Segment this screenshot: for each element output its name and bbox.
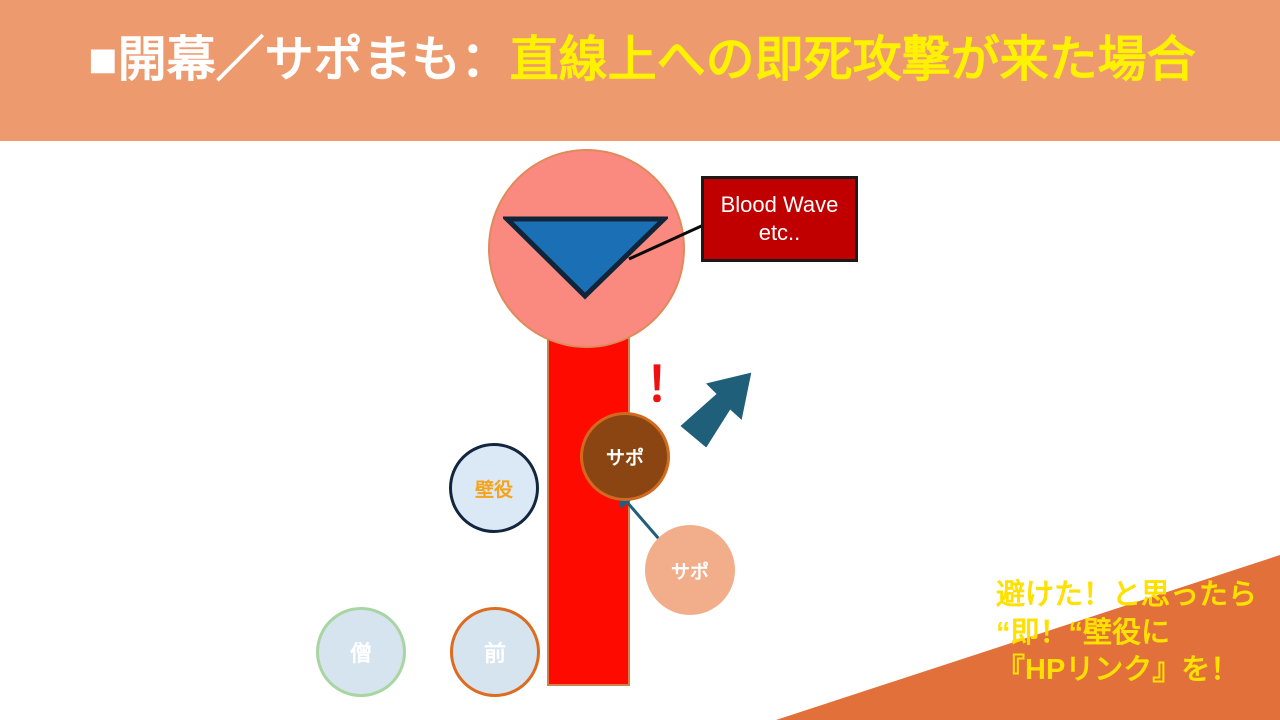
callout-line-2: etc.. <box>759 219 801 247</box>
token-support-peach-label: サポ <box>671 557 709 584</box>
token-wall-label: 壁役 <box>475 475 513 502</box>
corner-note-line-2: “即！“壁役に <box>996 615 1257 653</box>
corner-note-line-1: 避けた！と思ったら <box>996 577 1257 615</box>
corner-note-text: 避けた！と思ったら “即！“壁役に 『HPリンク』を！ <box>996 577 1257 690</box>
page-title: ■開幕／サポまも：直線上への即死攻撃が来た場合 <box>88 34 1196 88</box>
slide-canvas: ■開幕／サポまも：直線上への即死攻撃が来た場合 避けた！と思ったら “即！“壁役… <box>0 0 1280 720</box>
big-arrow-shape <box>680 372 752 447</box>
token-support-peach[interactable]: サポ <box>645 525 735 615</box>
token-front-label: 前 <box>484 636 506 668</box>
attack-name-callout: Blood Wave etc.. <box>701 176 858 262</box>
page-title-yellow-part: 直線上への即死攻撃が来た場合 <box>510 33 1196 87</box>
page-title-white-part: ■開幕／サポまも： <box>88 33 510 87</box>
callout-connector-line <box>625 215 710 265</box>
token-front[interactable]: 前 <box>450 607 540 697</box>
corner-note-line-3: 『HPリンク』を！ <box>996 652 1257 690</box>
token-support-brown[interactable]: サポ <box>580 412 670 501</box>
move-away-arrow-icon <box>680 372 752 447</box>
callout-line-1: Blood Wave <box>721 191 839 219</box>
token-monk[interactable]: 僧 <box>316 607 406 697</box>
header-band: ■開幕／サポまも：直線上への即死攻撃が来た場合 <box>0 0 1280 141</box>
token-monk-label: 僧 <box>350 636 372 668</box>
connector-line-shape <box>625 215 710 265</box>
token-wall-role[interactable]: 壁役 <box>449 443 539 533</box>
token-support-brown-label: サポ <box>606 443 644 470</box>
